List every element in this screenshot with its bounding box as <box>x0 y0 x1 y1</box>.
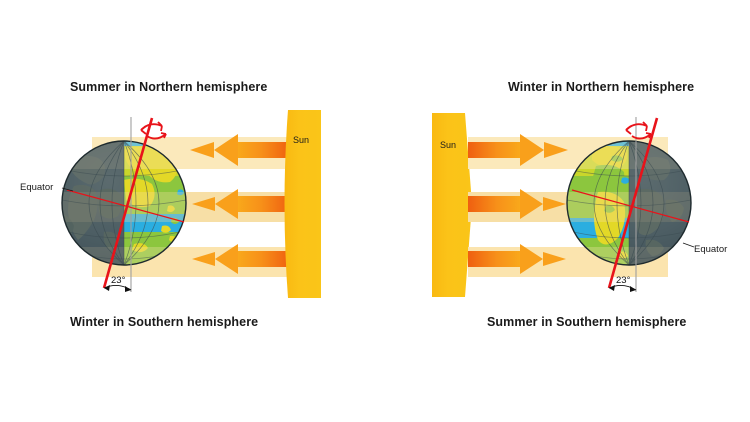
tilt-angle-label-right: 23° <box>616 275 631 286</box>
equator-label-right: Equator <box>694 244 727 255</box>
equator-label-left: Equator <box>20 182 53 193</box>
tilt-angle-marker-right <box>609 285 636 292</box>
equator-leader-right <box>683 243 694 247</box>
seasons-illustration: Equator 23° <box>0 0 750 422</box>
sun-label-left: Sun <box>293 135 309 145</box>
rotation-arrow-left <box>141 122 166 139</box>
sun-label-right: Sun <box>440 140 456 150</box>
sun-left: Sun <box>285 110 322 298</box>
tilt-angle-label-left: 23° <box>111 275 126 286</box>
rotation-arrow-right <box>626 122 651 139</box>
tilt-angle-marker-left <box>104 285 131 292</box>
sun-right: Sun <box>432 113 472 297</box>
diagram-canvas: Summer in Northern hemisphere Winter in … <box>0 0 750 422</box>
